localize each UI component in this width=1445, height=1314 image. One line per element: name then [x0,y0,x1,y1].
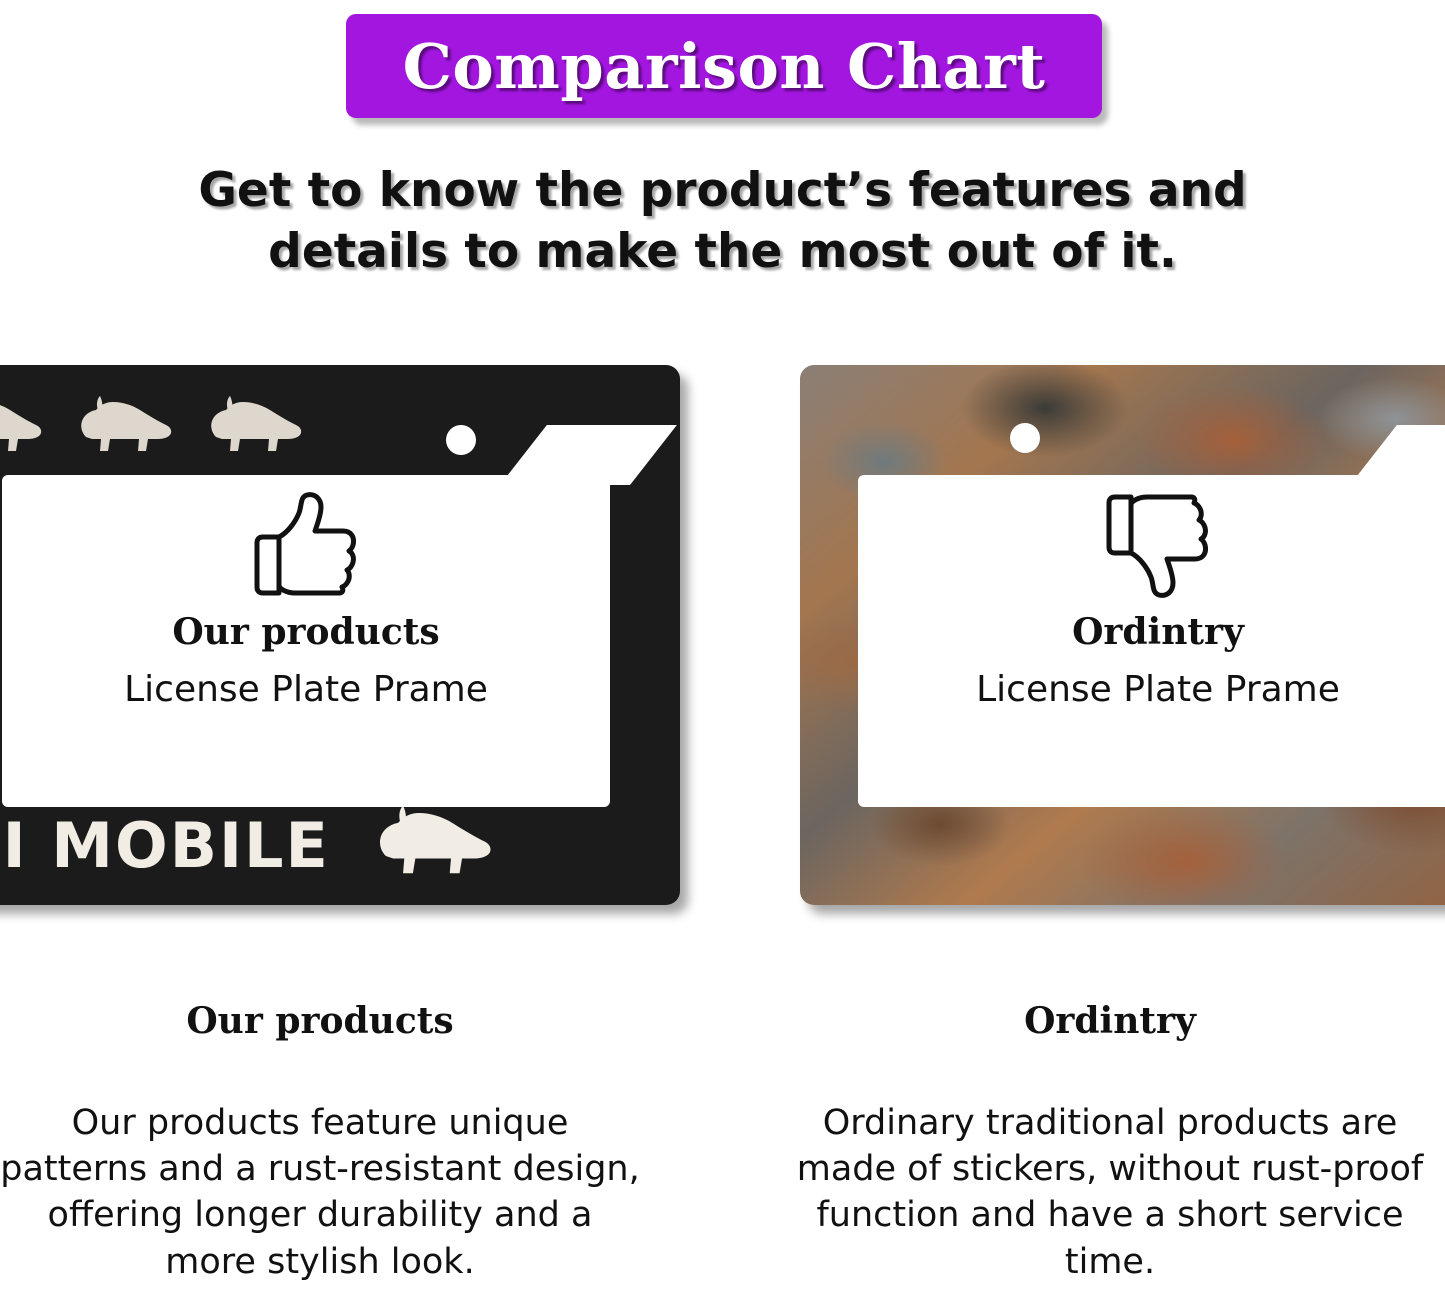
corgi-silhouette-icon [206,393,306,463]
corgi-pattern-top [0,387,446,469]
page-title: Comparison Chart [403,30,1046,103]
left-product-subtitle: License Plate Prame [124,669,488,710]
subtitle-line-1: Get to know the product’s features and [0,160,1445,221]
ordinary-product-plate-frame: Ordintry License Plate Prame [800,365,1445,905]
comparison-chart-banner: Comparison Chart [346,14,1102,118]
right-description-heading: Ordintry [790,1000,1430,1042]
right-plate-window: Ordintry License Plate Prame [858,475,1445,807]
subtitle: Get to know the product’s features and d… [0,160,1445,282]
right-description-column: Ordintry Ordinary traditional products a… [790,1000,1430,1285]
left-product-title: Our products [172,611,439,653]
product-comparison-images: Our products License Plate Prame RGI MOB… [0,355,1445,915]
mounting-hole [1010,423,1040,453]
plate-text: RGI MOBILE [0,809,330,882]
left-description-column: Our products Our products feature unique… [0,1000,640,1285]
subtitle-line-2: details to make the most out of it. [0,221,1445,282]
our-product-plate-frame: Our products License Plate Prame RGI MOB… [0,365,680,905]
right-product-subtitle: License Plate Prame [976,669,1340,710]
right-description-body: Ordinary traditional products are made o… [790,1100,1430,1285]
right-product-title: Ordintry [1072,611,1244,653]
left-description-body: Our products feature unique patterns and… [0,1100,640,1285]
corgi-silhouette-icon [0,393,46,463]
corgi-silhouette-icon [360,802,510,888]
plate-bottom-row: RGI MOBILE [0,805,640,885]
thumbs-down-icon [1095,489,1221,601]
left-plate-window: Our products License Plate Prame [2,475,610,807]
corgi-silhouette-icon [76,393,176,463]
mounting-hole [446,425,476,455]
thumbs-up-icon [243,489,369,601]
left-description-heading: Our products [0,1000,640,1042]
